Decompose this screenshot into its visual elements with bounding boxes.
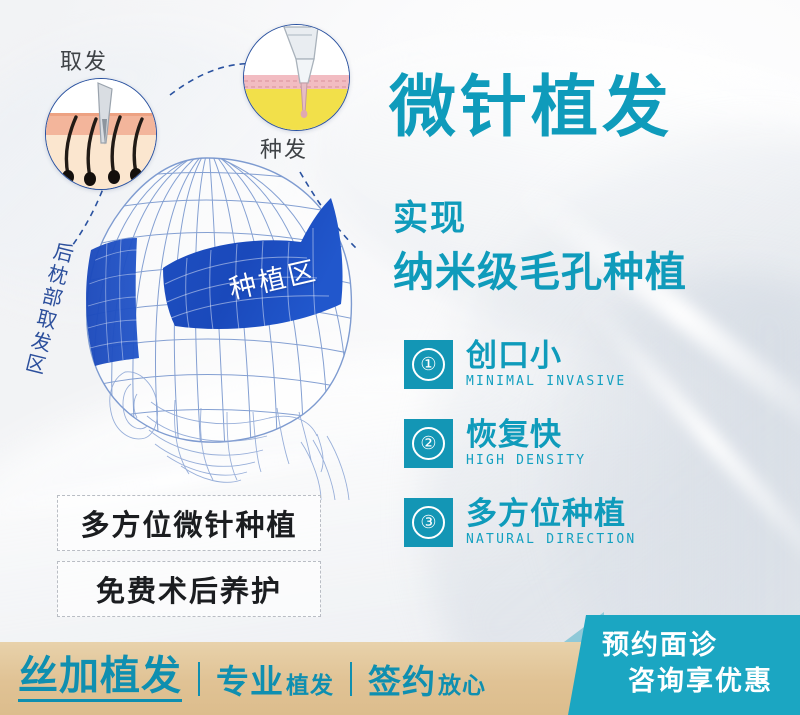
promo-box-1: 多方位微针种植: [57, 495, 321, 551]
circled-number-3-icon: ③: [412, 506, 445, 539]
circled-number-2-icon: ②: [412, 427, 445, 460]
implant-label: 种发: [260, 132, 308, 164]
page-title: 微针植发: [389, 74, 673, 141]
feature-item-2: ② 恢复快 HIGH DENSITY: [404, 419, 586, 468]
banner-separator-1: [198, 662, 200, 696]
feature-subtitle-2: HIGH DENSITY: [466, 453, 586, 468]
follicle-extraction-icon: [45, 78, 157, 190]
feature-title-2: 恢复快: [466, 419, 586, 452]
poster-canvas: 种植区 后枕部取发区 取发: [0, 0, 800, 715]
feature-subtitle-1: MINIMAL INVASIVE: [466, 374, 626, 389]
wireframe-head-icon: [55, 150, 395, 500]
banner-slogan-2: 签约 放心: [368, 655, 486, 703]
feature-item-1: ① 创口小 MINIMAL INVASIVE: [404, 340, 626, 389]
cta-line-1: 预约面诊: [602, 628, 773, 664]
feature-badge-3: ③: [404, 498, 453, 547]
feature-title-3: 多方位种植: [466, 498, 636, 531]
cta-panel[interactable]: 预约面诊 咨询享优惠: [568, 615, 800, 715]
cta-line-2: 咨询享优惠: [602, 664, 773, 700]
slogan-2-small: 放心: [438, 666, 486, 700]
brand-name: 丝加植发: [18, 655, 182, 702]
banner-separator-2: [350, 662, 352, 696]
subtitle-line-2: 纳米级毛孔种植: [393, 238, 687, 298]
feature-title-1: 创口小: [466, 340, 626, 373]
slogan-2-big: 签约: [368, 655, 436, 703]
slogan-1-small: 植发: [286, 666, 334, 700]
feature-item-3: ③ 多方位种植 NATURAL DIRECTION: [404, 498, 636, 547]
slogan-1-big: 专业: [216, 655, 284, 703]
circled-number-1-icon: ①: [412, 348, 445, 381]
feature-badge-1: ①: [404, 340, 453, 389]
feature-badge-2: ②: [404, 419, 453, 468]
subtitle-line-1: 实现: [393, 190, 467, 241]
extract-label: 取发: [60, 44, 108, 76]
promo-box-2: 免费术后养护: [57, 561, 321, 617]
feature-subtitle-3: NATURAL DIRECTION: [466, 532, 636, 547]
banner-slogan-1: 专业 植发: [216, 655, 334, 703]
cta-text-block: 预约面诊 咨询享优惠: [602, 628, 773, 699]
needle-implant-icon: [243, 24, 350, 131]
banner-content: 丝加植发 专业 植发 签约 放心: [18, 642, 486, 715]
